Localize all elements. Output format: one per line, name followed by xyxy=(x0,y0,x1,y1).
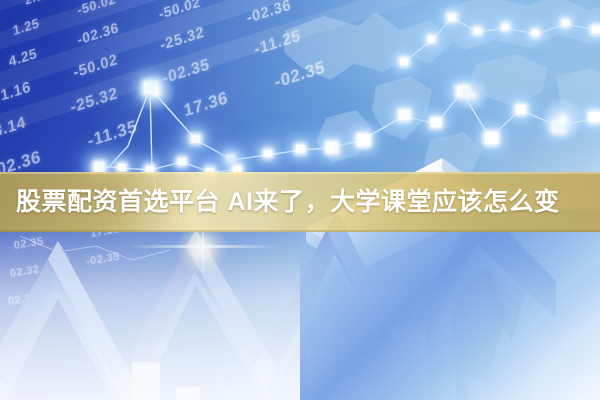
band-top-edge xyxy=(0,172,600,174)
page-title: 股票配资首选平台 AI来了，大学课堂应该怎么变 xyxy=(16,190,559,215)
band-bottom-edge xyxy=(0,230,600,232)
banner-image: -50.02 -02.36 -02.35 21.36 -02.36 -50.35… xyxy=(0,0,600,400)
lower-blue-overlay xyxy=(300,210,600,400)
title-banner-band: 股票配资首选平台 AI来了，大学课堂应该怎么变 xyxy=(0,172,600,232)
